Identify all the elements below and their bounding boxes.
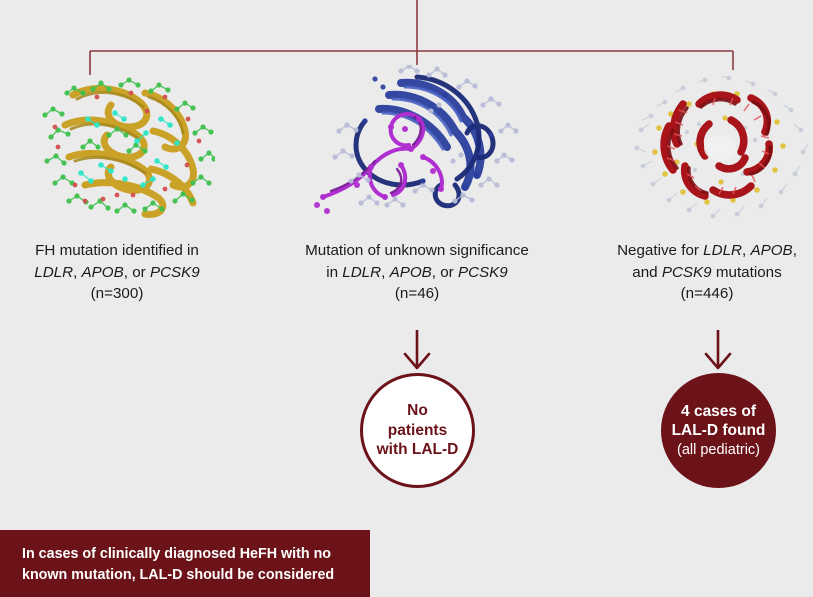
down-arrow-cases-found	[696, 328, 740, 374]
banner-line-1: In cases of clinically diagnosed HeFH wi…	[22, 544, 348, 565]
result-line-1: No	[407, 401, 428, 421]
gene-apob: APOB	[82, 264, 124, 281]
gene-pcsk9: PCSK9	[150, 264, 200, 281]
caption-pre: in	[326, 264, 342, 281]
protein-structure-red-helix	[625, 70, 813, 220]
protein-structure-gold-ribbon	[25, 75, 215, 220]
caption-negative: Negative for LDLR, APOB, and PCSK9 mutat…	[601, 240, 813, 305]
gene-ldlr: LDLR	[342, 264, 381, 281]
caption-line-2: in LDLR, APOB, or PCSK9	[272, 262, 562, 284]
caption-fh-mutation: FH mutation identified in LDLR, APOB, or…	[0, 240, 234, 305]
caption-post: ,	[793, 242, 797, 259]
gene-pcsk9: PCSK9	[458, 264, 508, 281]
caption-sep-1: ,	[381, 264, 389, 281]
result-line-3: (all pediatric)	[677, 441, 760, 460]
caption-sep-2: , or	[124, 264, 150, 281]
result-line-1: 4 cases of	[681, 402, 756, 422]
result-circle-no-patients: No patients with LAL-D	[360, 373, 475, 488]
caption-unknown-significance: Mutation of unknown significance in LDLR…	[272, 240, 562, 305]
caption-line-1: FH mutation identified in	[0, 240, 234, 262]
caption-sample-size: (n=446)	[601, 283, 813, 305]
caption-line-1: Mutation of unknown significance	[272, 240, 562, 262]
caption-sample-size: (n=300)	[0, 283, 234, 305]
result-circle-cases-found: 4 cases of LAL-D found (all pediatric)	[661, 373, 776, 488]
caption-sep-2: , or	[432, 264, 458, 281]
down-arrow-no-patients	[395, 328, 439, 374]
gene-apob: APOB	[750, 242, 792, 259]
gene-apob: APOB	[390, 264, 432, 281]
figure-canvas: FH mutation identified in LDLR, APOB, or…	[0, 0, 813, 597]
result-line-2: patients	[388, 421, 447, 441]
caption-sep-1: ,	[73, 264, 81, 281]
caption-sample-size: (n=46)	[272, 283, 562, 305]
caption-pre-2: and	[632, 264, 662, 281]
gene-pcsk9: PCSK9	[662, 264, 712, 281]
gene-ldlr: LDLR	[34, 264, 73, 281]
protein-structure-blue-ribbon	[305, 65, 520, 220]
caption-post-2: mutations	[712, 264, 782, 281]
key-message-banner: In cases of clinically diagnosed HeFH wi…	[0, 530, 370, 597]
caption-line-1: Negative for LDLR, APOB,	[601, 240, 813, 262]
caption-pre: Negative for	[617, 242, 703, 259]
caption-line-2: and PCSK9 mutations	[601, 262, 813, 284]
result-line-2: LAL-D found	[672, 421, 766, 441]
banner-line-2: known mutation, LAL-D should be consider…	[22, 565, 348, 586]
caption-line-2: LDLR, APOB, or PCSK9	[0, 262, 234, 284]
result-line-3: with LAL-D	[377, 440, 459, 460]
gene-ldlr: LDLR	[703, 242, 742, 259]
